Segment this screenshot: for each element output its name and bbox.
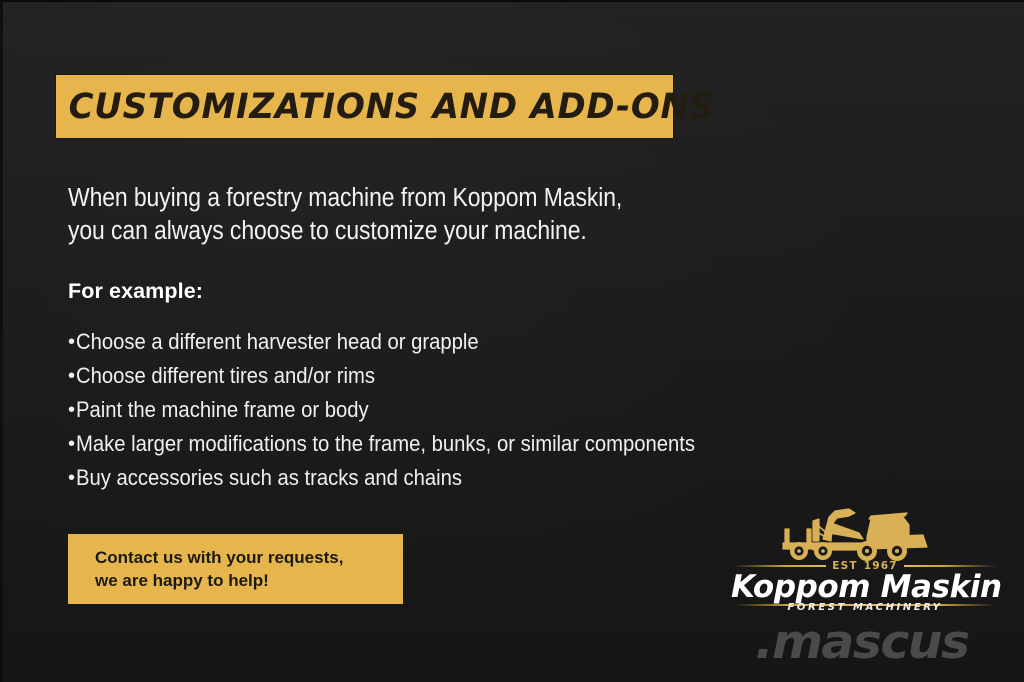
list-item: • Make larger modifications to the frame… — [68, 427, 764, 461]
koppom-maskin-logo: EST 1967 Koppom Maskin FOREST MACHINERY — [731, 503, 999, 615]
bullet-icon: • — [68, 400, 75, 420]
intro-line-1: When buying a forestry machine from Kopp… — [68, 182, 716, 215]
for-example-heading: For example: — [68, 279, 203, 304]
page-title: CUSTOMIZATIONS AND ADD-ONS — [56, 87, 715, 127]
bullet-icon: • — [68, 468, 75, 488]
list-item-label: Buy accessories such as tracks and chain… — [76, 461, 462, 495]
mascus-watermark: .mascus — [755, 615, 969, 670]
list-item-label: Choose different tires and/or rims — [76, 359, 375, 393]
logo-tagline: FOREST MACHINERY — [731, 602, 999, 613]
bullet-icon: • — [68, 332, 75, 352]
customization-list: • Choose a different harvester head or g… — [68, 325, 764, 495]
logo-brand-name: Koppom Maskin — [731, 569, 999, 605]
bullet-icon: • — [68, 366, 75, 386]
forestry-harvester-icon — [763, 503, 963, 561]
list-item: • Buy accessories such as tracks and cha… — [68, 461, 764, 495]
list-item-label: Make larger modifications to the frame, … — [76, 427, 695, 461]
intro-paragraph: When buying a forestry machine from Kopp… — [68, 182, 788, 248]
intro-line-2: you can always choose to customize your … — [68, 215, 716, 248]
title-banner: CUSTOMIZATIONS AND ADD-ONS — [56, 75, 673, 138]
logo-rule-right — [904, 565, 997, 567]
list-item-label: Paint the machine frame or body — [76, 393, 369, 427]
cta-line-1: Contact us with your requests, — [95, 546, 403, 569]
list-item: • Paint the machine frame or body — [68, 393, 764, 427]
contact-cta-box[interactable]: Contact us with your requests, we are ha… — [68, 534, 403, 604]
list-item-label: Choose a different harvester head or gra… — [76, 325, 479, 359]
bullet-icon: • — [68, 434, 75, 454]
cta-line-2: we are happy to help! — [95, 569, 403, 592]
list-item: • Choose a different harvester head or g… — [68, 325, 764, 359]
promo-slide: CUSTOMIZATIONS AND ADD-ONS When buying a… — [0, 0, 1024, 682]
list-item: • Choose different tires and/or rims — [68, 359, 764, 393]
logo-rule-left — [733, 565, 826, 567]
